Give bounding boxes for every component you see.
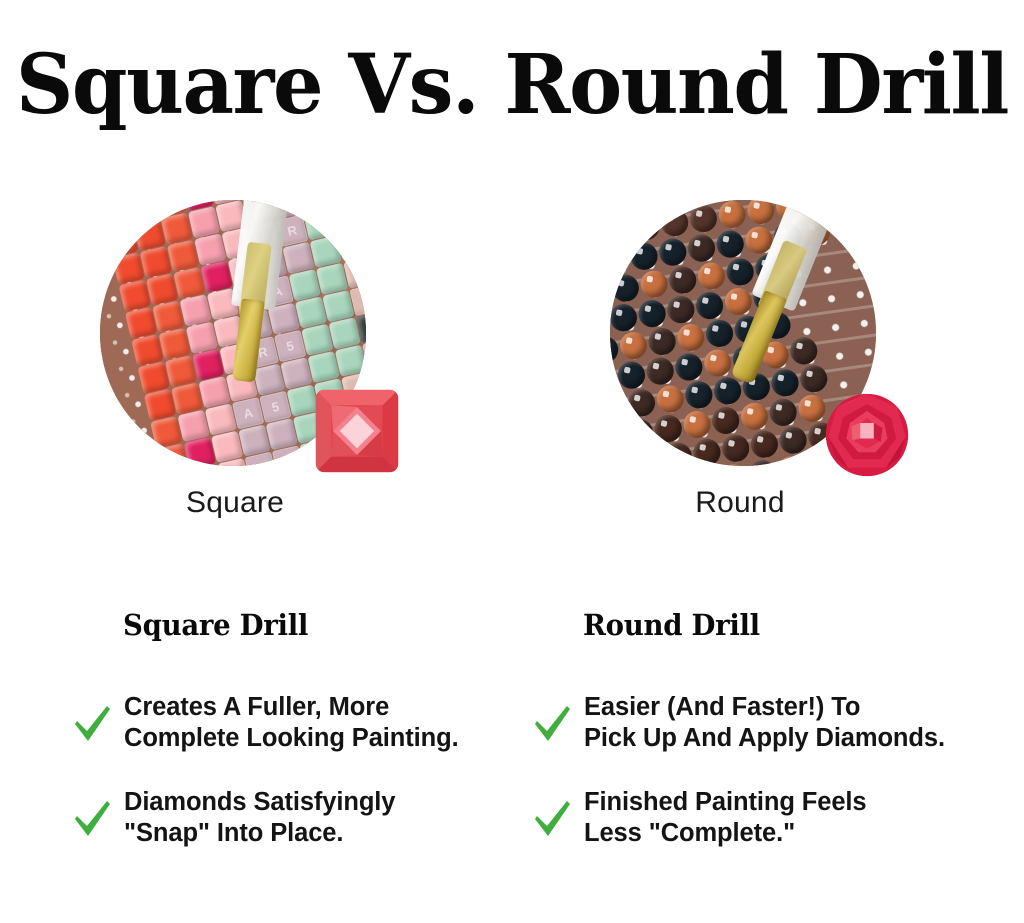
round-drill-bead xyxy=(747,459,777,466)
round-drill-bead xyxy=(674,352,704,382)
check-icon xyxy=(72,700,112,746)
round-drill-bead xyxy=(610,215,632,245)
list-item: Finished Painting Feels Less "Complete." xyxy=(532,787,992,848)
round-drill-bead xyxy=(610,364,618,394)
round-drill-bead xyxy=(719,463,749,466)
round-photo-wrap xyxy=(610,200,910,475)
round-gem-icon xyxy=(824,392,910,478)
square-drill-heading: Square Drill xyxy=(123,608,308,642)
square-drill-bead xyxy=(337,229,366,261)
round-drill-bead xyxy=(626,388,656,418)
page-title: Square Vs. Round Drill xyxy=(15,44,1008,126)
round-drill-bead xyxy=(663,441,693,466)
round-drill-bead xyxy=(631,211,661,241)
round-drill-bead xyxy=(639,269,669,299)
round-drill-bead xyxy=(799,364,829,394)
round-drill-bead xyxy=(682,409,712,439)
round-drill-bead xyxy=(686,233,716,263)
infographic-page: Square Vs. Round Drill GRR5AAR5GGRA5AGRR… xyxy=(0,0,1024,923)
round-drill-bead xyxy=(770,368,800,398)
list-item: Creates A Fuller, More Complete Looking … xyxy=(72,692,502,753)
round-drill-bead xyxy=(768,397,798,427)
round-drill-bead xyxy=(610,302,639,332)
round-drill-bead xyxy=(645,356,675,386)
round-drill-bead xyxy=(666,294,696,324)
round-drill-heading: Round Drill xyxy=(583,608,760,642)
bullet-text: Creates A Fuller, More Complete Looking … xyxy=(124,692,459,753)
round-drill-bead xyxy=(610,392,628,422)
round-drill-bead xyxy=(712,376,742,406)
round-drill-bead xyxy=(624,417,654,447)
round-drill-bead xyxy=(715,229,745,259)
bullet-text: Diamonds Satisfyingly "Snap" Into Place. xyxy=(124,787,395,848)
round-drill-bead xyxy=(658,237,688,267)
round-drill-bead xyxy=(618,330,648,360)
round-drill-bead xyxy=(694,290,724,320)
round-drill-bead xyxy=(696,261,726,291)
check-icon xyxy=(532,700,572,746)
check-icon xyxy=(72,795,112,841)
round-photo-caption: Round xyxy=(590,486,890,520)
round-drill-bead xyxy=(653,413,683,443)
round-drill-bead xyxy=(746,200,776,226)
photo-comparison-row: GRR5AAR5GGRA5AGRR5GGARA5AGRA55AGAR5A5G xyxy=(0,200,1024,475)
list-item: Diamonds Satisfyingly "Snap" Into Place. xyxy=(72,787,502,848)
round-drill-bead xyxy=(692,437,722,466)
round-drill-bead xyxy=(610,273,640,303)
round-drill-bead xyxy=(676,322,706,352)
square-photo-wrap: GRR5AAR5GGRA5AGRR5GGARA5AGRA55AGAR5A5G xyxy=(100,200,400,475)
round-drill-bead xyxy=(720,433,750,463)
round-drill-bead xyxy=(621,200,651,214)
list-item: Easier (And Faster!) To Pick Up And Appl… xyxy=(532,692,992,753)
round-drill-bead xyxy=(610,334,620,364)
pen-tip xyxy=(232,298,265,382)
square-gem-icon xyxy=(314,388,400,474)
round-drill-bead xyxy=(610,245,631,275)
round-drill-bead xyxy=(789,336,819,366)
bullet-text: Easier (And Faster!) To Pick Up And Appl… xyxy=(584,692,945,753)
round-drill-bead xyxy=(710,405,740,435)
round-drill-bead xyxy=(739,401,769,431)
round-drill-bead xyxy=(610,200,623,218)
round-drill-bead xyxy=(725,257,755,287)
round-drill-bead xyxy=(797,393,827,423)
square-photo-caption: Square xyxy=(85,486,385,520)
round-drill-bead xyxy=(637,298,667,328)
round-drill-bead xyxy=(717,200,747,230)
round-drill-bead xyxy=(668,265,698,295)
round-drill-bead xyxy=(655,384,685,414)
bullet-text: Finished Painting Feels Less "Complete." xyxy=(584,787,867,848)
round-drill-bead xyxy=(749,429,779,459)
round-drill-bead xyxy=(647,326,677,356)
round-drill-bead xyxy=(610,449,636,466)
round-drill-bead xyxy=(688,203,718,233)
round-drill-bead xyxy=(629,241,659,271)
check-icon xyxy=(532,795,572,841)
round-drill-bullet-list: Easier (And Faster!) To Pick Up And Appl… xyxy=(532,692,992,882)
square-drill-bullet-list: Creates A Fuller, More Complete Looking … xyxy=(72,692,502,882)
round-drill-bead xyxy=(778,425,808,455)
round-drill-bead xyxy=(610,421,626,451)
round-drill-bead xyxy=(684,380,714,410)
round-drill-bead xyxy=(659,207,689,237)
round-drill-bead xyxy=(616,360,646,390)
round-drill-bead xyxy=(776,455,806,466)
round-drill-bead xyxy=(634,445,664,466)
